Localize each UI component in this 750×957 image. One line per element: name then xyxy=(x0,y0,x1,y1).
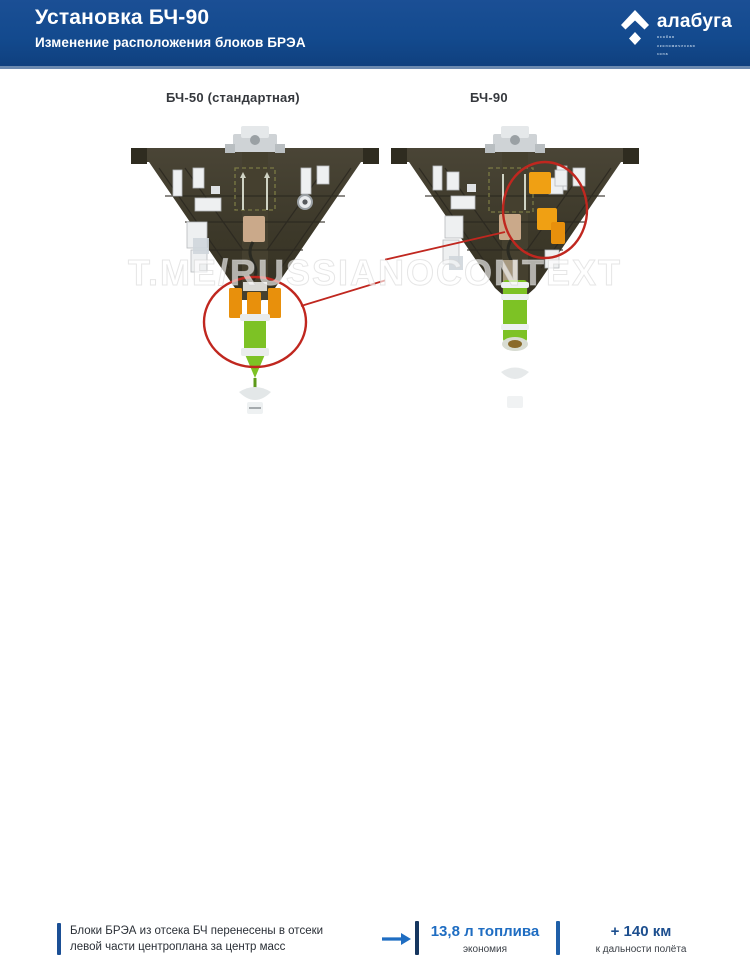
footer-note-line-2: левой части центроплана за центр масс xyxy=(70,939,370,955)
logo-subtitle-line-2: экономическая xyxy=(657,44,732,49)
logo-text: алабуга особая экономическая зона xyxy=(657,8,732,57)
logo-subtitle-line-3: зона xyxy=(657,52,732,57)
footer-accent-bar-2 xyxy=(415,921,419,955)
metric-fuel-value: 13,8 л топлива xyxy=(425,922,545,941)
alabuga-chevron-icon xyxy=(620,8,650,52)
diagram-stage xyxy=(0,110,750,440)
metric-range-value: + 140 км xyxy=(566,922,716,941)
arrow-right-icon xyxy=(382,932,412,946)
diagram-caption-right: БЧ-90 xyxy=(470,90,508,105)
footer-note-line-1: Блоки БРЭА из отсека БЧ перенесены в отс… xyxy=(70,923,370,939)
logo-wordmark: алабуга xyxy=(657,12,732,31)
footer-note: Блоки БРЭА из отсека БЧ перенесены в отс… xyxy=(70,923,370,955)
slide-header: Установка БЧ-90 Изменение расположения б… xyxy=(0,0,750,69)
metric-fuel-saving: 13,8 л топлива экономия xyxy=(425,922,545,957)
footer-accent-bar-3 xyxy=(556,921,560,955)
drone-diagram-standard xyxy=(125,110,385,430)
logo-subtitle-line-1: особая xyxy=(657,35,732,40)
page-title: Установка БЧ-90 xyxy=(35,5,306,31)
footer-accent-bar-1 xyxy=(57,923,61,955)
metric-fuel-label: экономия xyxy=(425,943,545,957)
slide-footer: Блоки БРЭА из отсека БЧ перенесены в отс… xyxy=(0,455,750,515)
alabuga-logo: алабуга особая экономическая зона xyxy=(620,8,732,57)
header-text-block: Установка БЧ-90 Изменение расположения б… xyxy=(35,5,306,53)
page-subtitle: Изменение расположения блоков БРЭА xyxy=(35,33,306,53)
metric-range-label: к дальности полёта xyxy=(566,943,716,957)
diagram-caption-left: БЧ-50 (стандартная) xyxy=(166,90,300,105)
drone-diagram-bch90 xyxy=(385,110,645,430)
metric-range-gain: + 140 км к дальности полёта xyxy=(566,922,716,957)
